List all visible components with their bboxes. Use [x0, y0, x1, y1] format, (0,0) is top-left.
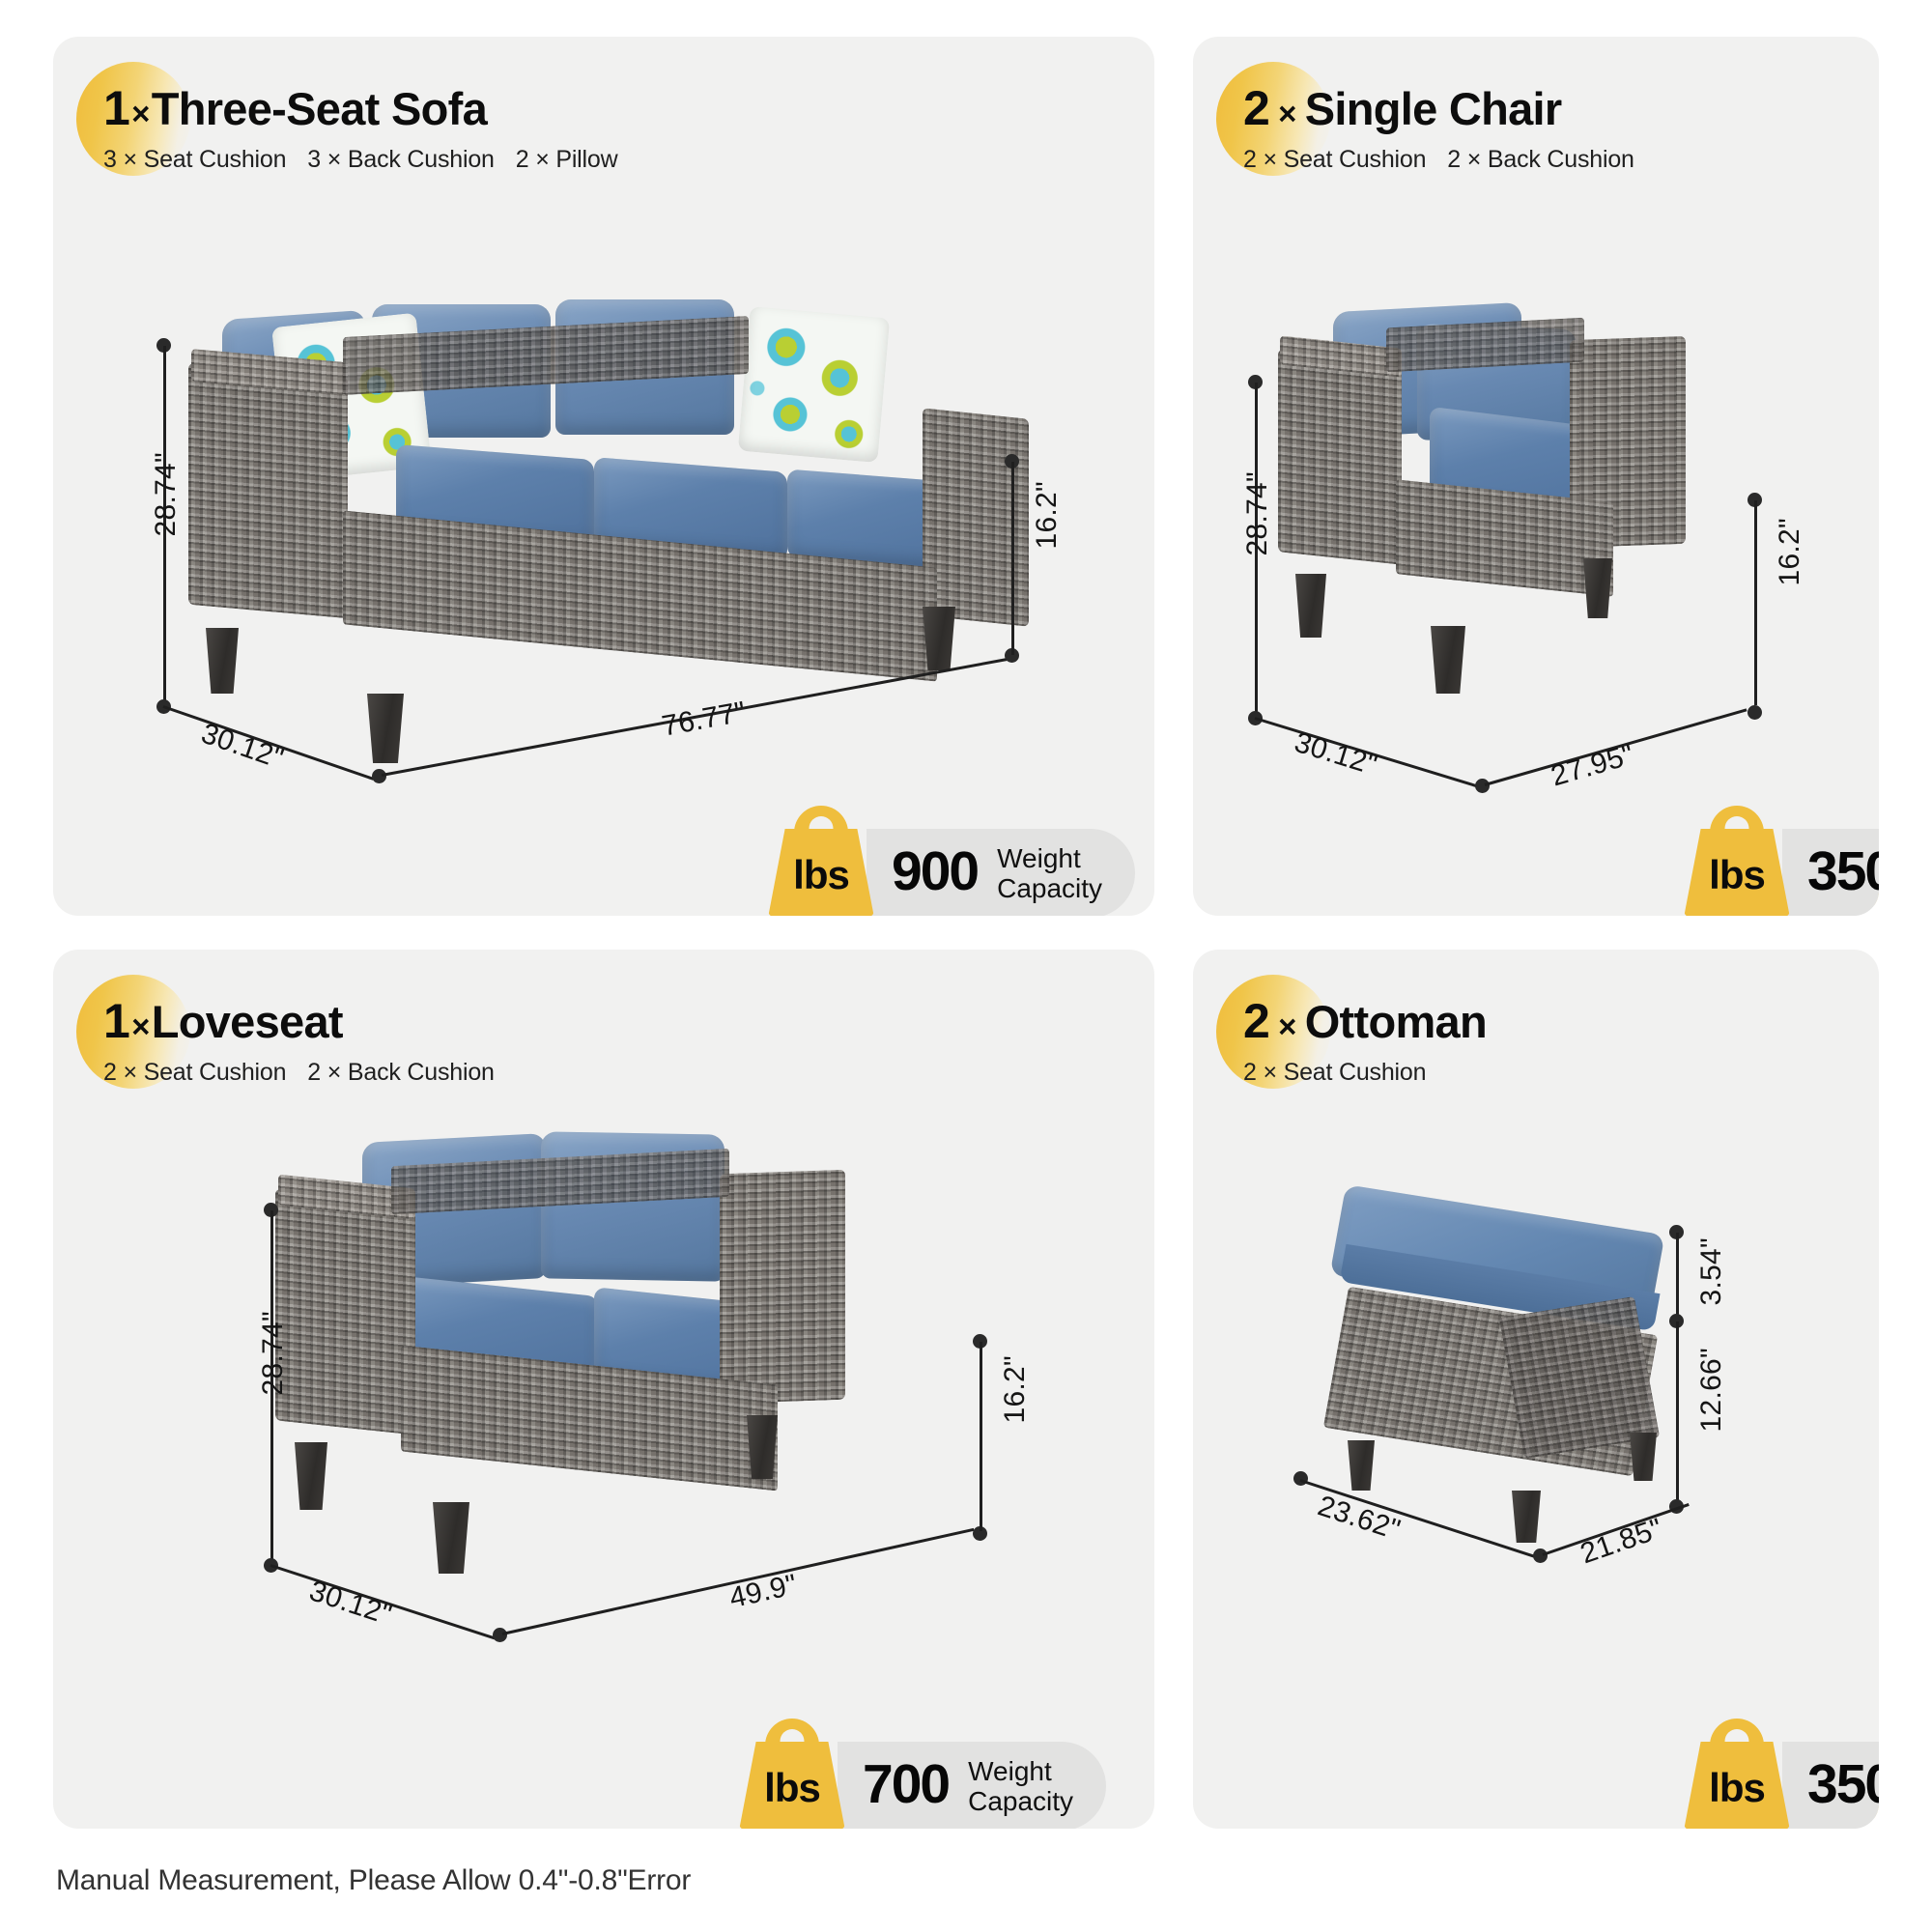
- weight-body-icon: lbs: [1684, 1742, 1790, 1829]
- dim-label-width: 49.9": [726, 1569, 800, 1615]
- panel-qty: 2: [1243, 994, 1269, 1048]
- weight-capacity-label: Weight Capacity: [968, 1756, 1073, 1817]
- panel-includes: 2 × Seat Cushion: [1243, 1059, 1487, 1087]
- capacity-line1: Weight: [968, 1756, 1052, 1786]
- sofa-leg: [923, 607, 955, 670]
- panel-three-seat-sofa: 1×Three-Seat Sofa 3 × Seat Cushion3 × Ba…: [53, 37, 1154, 916]
- weight-unit: lbs: [1709, 852, 1765, 898]
- badge-pill: 700 Weight Capacity: [838, 1742, 1106, 1829]
- panel-title-text: Three-Seat Sofa: [152, 83, 487, 134]
- panel-includes: 2 × Seat Cushion2 × Back Cushion: [1243, 146, 1634, 174]
- weight-value: 350: [1807, 844, 1879, 903]
- panel-header: 2×Single Chair 2 × Seat Cushion2 × Back …: [1243, 83, 1634, 174]
- panel-title-text: Single Chair: [1305, 83, 1562, 134]
- dim-label-height: 28.74": [1241, 471, 1274, 556]
- weight-capacity-badge: lbs 350 Weight Capacity: [1684, 1742, 1879, 1829]
- dim-dot: [493, 1628, 507, 1642]
- capacity-line2: Capacity: [968, 1786, 1073, 1816]
- measurement-disclaimer: Manual Measurement, Please Allow 0.4"-0.…: [56, 1864, 691, 1897]
- weight-icon: lbs: [1684, 1742, 1790, 1829]
- include-item: 2 × Back Cushion: [1447, 146, 1634, 173]
- dim-label-seat-height: 16.2": [1774, 518, 1806, 586]
- dim-line-seat-height: [1011, 462, 1014, 655]
- sofa-leg: [367, 694, 404, 763]
- panel-includes: 3 × Seat Cushion3 × Back Cushion2 × Pill…: [103, 146, 617, 174]
- dim-line-height: [1676, 1321, 1679, 1505]
- panel-title: 1×Loveseat: [103, 996, 495, 1047]
- panel-title: 2×Single Chair: [1243, 83, 1634, 134]
- badge-pill: 900 Weight Capacity: [867, 829, 1135, 916]
- panel-qty: 2: [1243, 81, 1269, 135]
- include-item: 2 × Seat Cushion: [1243, 1059, 1426, 1086]
- weight-body-icon: lbs: [768, 829, 874, 916]
- ottoman-leg: [1512, 1491, 1541, 1543]
- weight-capacity-badge: lbs 350 Weight Capacity: [1684, 829, 1879, 916]
- badge-pill: 350 Weight Capacity: [1782, 829, 1879, 916]
- dim-line-seat-height: [1754, 500, 1757, 705]
- weight-value: 350: [1807, 1757, 1879, 1816]
- ottoman-leg: [1630, 1433, 1657, 1481]
- chair-left-arm: [1278, 349, 1402, 564]
- dim-label-height: 28.74": [150, 452, 183, 537]
- weight-icon: lbs: [1684, 829, 1790, 916]
- dim-label-height: 28.74": [257, 1311, 290, 1396]
- panel-header: 2×Ottoman 2 × Seat Cushion: [1243, 996, 1487, 1087]
- decorative-pillow: [738, 306, 891, 463]
- dim-label-width: 27.95": [1548, 739, 1638, 794]
- weight-unit: lbs: [1709, 1765, 1765, 1811]
- panel-single-chair: 2×Single Chair 2 × Seat Cushion2 × Back …: [1193, 37, 1879, 916]
- dim-label-width: 21.85": [1577, 1513, 1667, 1572]
- chair-leg: [1583, 558, 1612, 618]
- loveseat-left-arm: [275, 1188, 415, 1435]
- dim-label-seat-height: 16.2": [1031, 481, 1064, 550]
- dim-label-depth: 30.12": [305, 1575, 396, 1632]
- ottoman-leg: [1348, 1440, 1375, 1491]
- dim-dot: [1533, 1548, 1548, 1563]
- dim-dot: [1747, 705, 1762, 720]
- capacity-line1: Weight: [997, 843, 1081, 873]
- dim-label-depth: 30.12": [197, 718, 288, 777]
- include-item: 3 × Seat Cushion: [103, 146, 286, 173]
- chair-leg: [1295, 574, 1326, 638]
- panel-title: 1×Three-Seat Sofa: [103, 83, 617, 134]
- badge-pill: 350 Weight Capacity: [1782, 1742, 1879, 1829]
- include-item: 3 × Back Cushion: [307, 146, 494, 173]
- weight-value: 900: [892, 844, 978, 903]
- weight-capacity-badge: lbs 700 Weight Capacity: [739, 1742, 1106, 1829]
- multiply-icon: ×: [129, 96, 152, 131]
- weight-capacity-badge: lbs 900 Weight Capacity: [768, 829, 1135, 916]
- loveseat-leg: [433, 1502, 469, 1574]
- dim-line-seat-height: [980, 1342, 982, 1531]
- weight-icon: lbs: [739, 1742, 845, 1829]
- sofa-left-arm: [188, 363, 348, 618]
- panel-includes: 2 × Seat Cushion2 × Back Cushion: [103, 1059, 495, 1087]
- panel-header: 1×Loveseat 2 × Seat Cushion2 × Back Cush…: [103, 996, 495, 1087]
- multiply-icon: ×: [1269, 1009, 1305, 1044]
- include-item: 2 × Seat Cushion: [1243, 146, 1426, 173]
- multiply-icon: ×: [129, 1009, 152, 1044]
- multiply-icon: ×: [1269, 96, 1305, 131]
- weight-body-icon: lbs: [739, 1742, 845, 1829]
- panel-title-text: Loveseat: [152, 996, 343, 1047]
- panel-ottoman: 2×Ottoman 2 × Seat Cushion 3.54" 12: [1193, 950, 1879, 1829]
- weight-icon: lbs: [768, 829, 874, 916]
- dim-label-seat-height: 16.2": [999, 1355, 1032, 1424]
- sofa-leg: [206, 628, 239, 694]
- panel-title: 2×Ottoman: [1243, 996, 1487, 1047]
- weight-body-icon: lbs: [1684, 829, 1790, 916]
- panel-title-text: Ottoman: [1305, 996, 1487, 1047]
- weight-unit: lbs: [764, 1765, 820, 1811]
- chair-leg: [1431, 626, 1465, 694]
- include-item: 2 × Back Cushion: [307, 1059, 494, 1086]
- panel-header: 1×Three-Seat Sofa 3 × Seat Cushion3 × Ba…: [103, 83, 617, 174]
- weight-capacity-label: Weight Capacity: [997, 843, 1102, 904]
- dim-line-cushion-height: [1676, 1233, 1679, 1320]
- dim-label-cushion-height: 3.54": [1695, 1237, 1728, 1306]
- include-item: 2 × Seat Cushion: [103, 1059, 286, 1086]
- dim-dot: [1475, 779, 1490, 793]
- weight-unit: lbs: [793, 852, 849, 898]
- capacity-line2: Capacity: [997, 873, 1102, 903]
- dim-label-width: 76.77": [660, 696, 749, 743]
- loveseat-leg: [295, 1442, 327, 1510]
- weight-value: 700: [863, 1757, 949, 1816]
- product-spec-grid: 1×Three-Seat Sofa 3 × Seat Cushion3 × Ba…: [53, 37, 1879, 1829]
- dim-label-height: 12.66": [1695, 1348, 1728, 1433]
- loveseat-right-arm: [720, 1170, 845, 1405]
- panel-qty: 1: [103, 81, 129, 135]
- panel-qty: 1: [103, 994, 129, 1048]
- include-item: 2 × Pillow: [516, 146, 618, 173]
- dim-label-depth: 30.12": [1291, 726, 1381, 782]
- panel-loveseat: 1×Loveseat 2 × Seat Cushion2 × Back Cush…: [53, 950, 1154, 1829]
- loveseat-leg: [747, 1415, 778, 1479]
